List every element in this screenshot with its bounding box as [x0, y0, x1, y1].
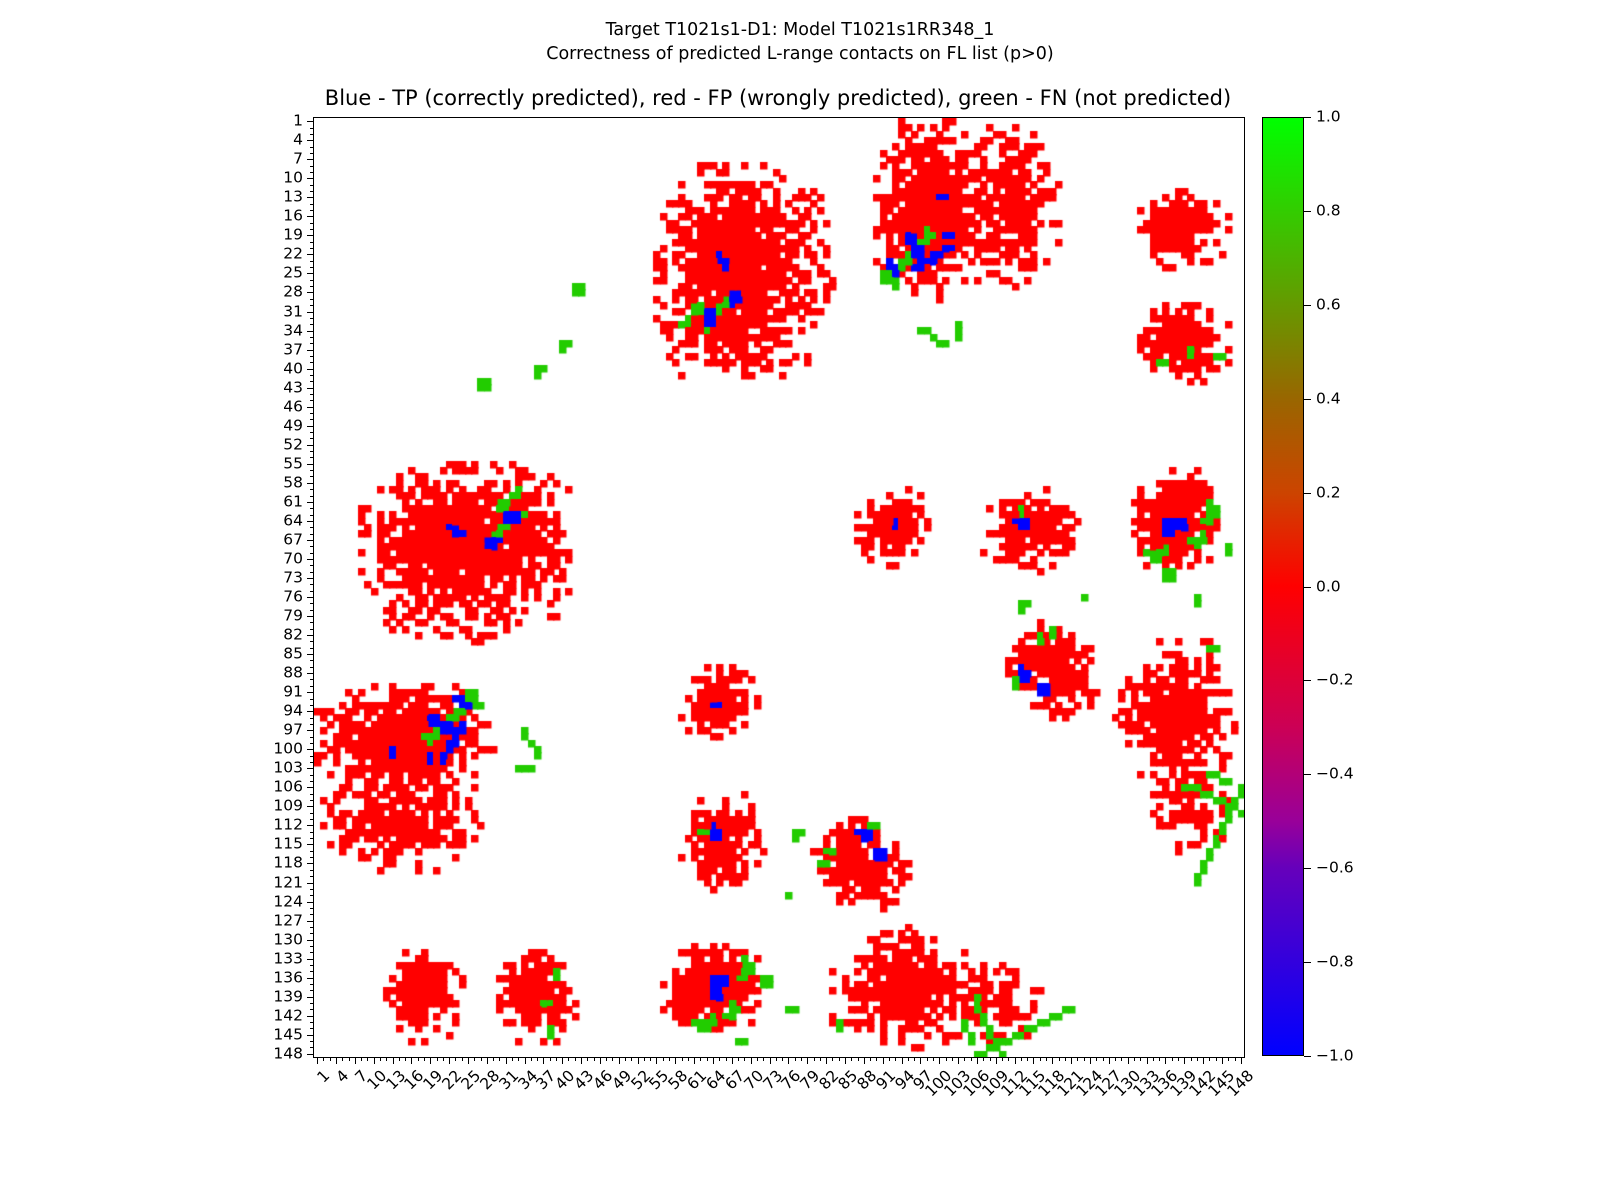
y-tick	[310, 242, 314, 243]
y-tick	[310, 775, 314, 776]
y-tick	[310, 908, 314, 909]
y-tick	[310, 629, 314, 630]
y-tick	[307, 140, 314, 141]
colorbar-tick-label: 0.6	[1316, 297, 1341, 313]
x-tick	[1178, 1057, 1179, 1061]
colorbar-tick-label: 0.4	[1316, 391, 1341, 407]
x-tick	[1071, 1057, 1072, 1064]
x-tick	[581, 1057, 582, 1064]
x-tick	[807, 1057, 808, 1064]
x-tick	[424, 1057, 425, 1061]
y-tick	[310, 147, 314, 148]
x-tick	[820, 1057, 821, 1061]
x-tick	[411, 1057, 412, 1064]
x-tick	[656, 1057, 657, 1064]
y-tick	[307, 254, 314, 255]
y-tick	[310, 679, 314, 680]
x-tick	[1140, 1057, 1141, 1061]
x-tick	[996, 1057, 997, 1064]
y-tick-label: 76	[283, 589, 303, 605]
y-tick-label: 112	[273, 818, 303, 834]
x-tick	[801, 1057, 802, 1061]
y-tick-label: 64	[283, 513, 303, 529]
x-tick	[455, 1057, 456, 1061]
y-tick-label: 31	[283, 304, 303, 320]
y-tick	[307, 940, 314, 941]
y-tick	[310, 724, 314, 725]
y-tick-label: 124	[273, 894, 303, 910]
x-tick	[1165, 1057, 1166, 1064]
x-tick	[606, 1057, 607, 1061]
y-tick	[310, 280, 314, 281]
y-tick	[307, 863, 314, 864]
y-tick	[307, 978, 314, 979]
x-tick	[550, 1057, 551, 1061]
x-tick	[977, 1057, 978, 1064]
y-tick	[310, 534, 314, 535]
y-tick	[310, 1003, 314, 1004]
y-tick	[310, 318, 314, 319]
y-tick	[310, 362, 314, 363]
y-tick	[307, 692, 314, 693]
x-tick	[870, 1057, 871, 1061]
y-tick-label: 19	[283, 228, 303, 244]
colorbar[interactable]: 1.00.80.60.40.20.0−0.2−0.4−0.6−0.8−1.0	[1262, 117, 1304, 1056]
y-tick	[307, 235, 314, 236]
x-tick	[795, 1057, 796, 1061]
y-tick	[310, 781, 314, 782]
y-tick-label: 70	[283, 551, 303, 567]
y-tick-label: 100	[273, 742, 303, 758]
y-tick	[307, 369, 314, 370]
y-tick-label: 139	[273, 989, 303, 1005]
y-tick	[307, 921, 314, 922]
x-tick	[386, 1057, 387, 1061]
x-tick	[650, 1057, 651, 1061]
x-tick	[355, 1057, 356, 1064]
y-tick	[310, 394, 314, 395]
y-tick	[307, 673, 314, 674]
y-tick-label: 142	[273, 1008, 303, 1024]
y-tick	[310, 210, 314, 211]
x-tick	[1235, 1057, 1236, 1061]
y-tick	[310, 324, 314, 325]
x-tick	[367, 1057, 368, 1061]
y-tick	[310, 718, 314, 719]
x-tick	[1147, 1057, 1148, 1064]
x-tick	[1027, 1057, 1028, 1061]
colorbar-tick	[1304, 493, 1311, 494]
x-tick	[330, 1057, 331, 1061]
y-tick	[307, 1035, 314, 1036]
y-tick-label: 61	[283, 494, 303, 510]
x-tick	[361, 1057, 362, 1061]
y-tick	[310, 185, 314, 186]
colorbar-tick-label: −0.8	[1316, 954, 1354, 970]
x-tick	[1153, 1057, 1154, 1061]
y-tick	[310, 870, 314, 871]
y-tick	[307, 121, 314, 122]
x-tick	[895, 1057, 896, 1061]
y-tick	[310, 990, 314, 991]
x-tick	[1191, 1057, 1192, 1061]
y-tick	[310, 261, 314, 262]
x-tick	[757, 1057, 758, 1061]
x-tick	[493, 1057, 494, 1061]
x-tick	[832, 1057, 833, 1061]
y-tick	[310, 838, 314, 839]
x-tick	[902, 1057, 903, 1064]
x-tick	[864, 1057, 865, 1064]
x-tick	[1103, 1057, 1104, 1061]
x-tick	[612, 1057, 613, 1061]
x-tick	[1241, 1057, 1242, 1064]
y-tick	[310, 172, 314, 173]
y-tick	[310, 489, 314, 490]
y-tick-label: 115	[273, 837, 303, 853]
x-tick	[744, 1057, 745, 1061]
y-tick	[307, 597, 314, 598]
y-tick	[310, 984, 314, 985]
colorbar-tick	[1304, 305, 1311, 306]
x-tick	[776, 1057, 777, 1061]
y-tick	[307, 464, 314, 465]
y-tick	[310, 432, 314, 433]
x-tick	[644, 1057, 645, 1061]
y-tick	[310, 857, 314, 858]
y-tick	[310, 1009, 314, 1010]
x-tick	[1159, 1057, 1160, 1061]
x-tick	[556, 1057, 557, 1061]
y-tick	[307, 1016, 314, 1017]
x-tick	[914, 1057, 915, 1061]
y-tick-label: 73	[283, 570, 303, 586]
y-tick	[310, 546, 314, 547]
x-tick	[568, 1057, 569, 1061]
y-tick	[310, 933, 314, 934]
y-tick	[307, 616, 314, 617]
x-tick	[1002, 1057, 1003, 1061]
x-tick	[1021, 1057, 1022, 1061]
y-tick	[310, 813, 314, 814]
colorbar-tick	[1304, 399, 1311, 400]
y-tick-label: 133	[273, 951, 303, 967]
x-tick	[499, 1057, 500, 1061]
y-tick	[307, 273, 314, 274]
y-tick-label: 10	[283, 171, 303, 187]
x-tick	[405, 1057, 406, 1061]
x-tick	[380, 1057, 381, 1061]
y-tick	[310, 756, 314, 757]
y-tick	[307, 787, 314, 788]
y-tick	[310, 927, 314, 928]
x-tick	[1228, 1057, 1229, 1061]
x-tick	[349, 1057, 350, 1061]
y-tick	[310, 800, 314, 801]
x-tick	[688, 1057, 689, 1061]
y-tick-label: 67	[283, 532, 303, 548]
contact-map-plot-area[interactable]: 1471013161922252831343740434649525558616…	[313, 117, 1245, 1058]
x-tick	[719, 1057, 720, 1061]
y-tick	[310, 166, 314, 167]
x-tick	[908, 1057, 909, 1061]
x-tick	[1134, 1057, 1135, 1061]
y-tick	[310, 438, 314, 439]
y-tick	[307, 388, 314, 389]
y-tick	[310, 413, 314, 414]
y-tick	[310, 223, 314, 224]
x-tick	[575, 1057, 576, 1061]
y-tick	[310, 470, 314, 471]
x-tick	[1090, 1057, 1091, 1064]
y-tick	[307, 997, 314, 998]
y-tick	[310, 508, 314, 509]
y-tick	[307, 483, 314, 484]
x-tick	[1033, 1057, 1034, 1064]
y-tick	[307, 825, 314, 826]
y-tick	[310, 737, 314, 738]
x-tick	[920, 1057, 921, 1064]
y-tick-label: 88	[283, 665, 303, 681]
y-tick-label: 37	[283, 342, 303, 358]
y-tick	[310, 153, 314, 154]
y-tick-label: 58	[283, 475, 303, 491]
x-tick	[726, 1057, 727, 1061]
x-tick	[713, 1057, 714, 1064]
figure-title-line1: Target T1021s1-D1: Model T1021s1RR348_1	[0, 18, 1600, 42]
y-tick	[310, 832, 314, 833]
x-tick	[443, 1057, 444, 1061]
x-tick	[625, 1057, 626, 1061]
y-tick	[307, 711, 314, 712]
x-tick	[531, 1057, 532, 1061]
y-tick	[310, 946, 314, 947]
y-tick	[310, 572, 314, 573]
y-tick-label: 130	[273, 932, 303, 948]
y-tick	[307, 502, 314, 503]
x-tick	[1015, 1057, 1016, 1064]
y-tick	[310, 248, 314, 249]
y-tick	[310, 419, 314, 420]
colorbar-tick-label: 1.0	[1316, 109, 1341, 125]
y-tick-label: 25	[283, 266, 303, 282]
x-tick	[952, 1057, 953, 1061]
y-tick	[310, 876, 314, 877]
contact-map-heatmap	[314, 118, 1244, 1057]
y-tick	[310, 204, 314, 205]
y-tick	[310, 527, 314, 528]
x-tick	[971, 1057, 972, 1061]
y-tick	[310, 584, 314, 585]
x-tick	[418, 1057, 419, 1061]
x-tick	[751, 1057, 752, 1064]
y-tick	[310, 496, 314, 497]
colorbar-tick	[1304, 587, 1311, 588]
x-tick	[927, 1057, 928, 1061]
y-tick-label: 7	[293, 151, 303, 167]
y-tick-label: 43	[283, 380, 303, 396]
y-tick-label: 40	[283, 361, 303, 377]
y-tick	[307, 883, 314, 884]
y-tick	[307, 844, 314, 845]
y-tick	[310, 134, 314, 135]
y-tick	[310, 191, 314, 192]
x-tick	[675, 1057, 676, 1064]
x-tick	[562, 1057, 563, 1064]
y-tick	[310, 451, 314, 452]
y-tick	[310, 343, 314, 344]
y-tick	[307, 559, 314, 560]
x-tick-label: 4	[334, 1068, 352, 1086]
y-tick	[310, 895, 314, 896]
colorbar-tick	[1304, 680, 1311, 681]
y-tick	[310, 305, 314, 306]
y-tick-label: 34	[283, 323, 303, 339]
y-tick-label: 16	[283, 209, 303, 225]
x-tick	[763, 1057, 764, 1061]
x-tick	[468, 1057, 469, 1064]
y-tick	[310, 286, 314, 287]
x-tick	[449, 1057, 450, 1064]
y-tick	[310, 1041, 314, 1042]
x-tick	[732, 1057, 733, 1064]
y-tick	[307, 292, 314, 293]
y-tick	[307, 730, 314, 731]
y-tick	[310, 660, 314, 661]
x-tick	[537, 1057, 538, 1061]
y-tick-label: 82	[283, 627, 303, 643]
x-tick	[342, 1057, 343, 1061]
x-tick	[638, 1057, 639, 1064]
y-tick	[307, 578, 314, 579]
x-tick	[858, 1057, 859, 1061]
x-tick	[1209, 1057, 1210, 1061]
x-tick	[851, 1057, 852, 1061]
y-tick	[310, 128, 314, 129]
y-tick	[307, 959, 314, 960]
x-tick	[1216, 1057, 1217, 1061]
x-tick	[1222, 1057, 1223, 1064]
x-tick	[958, 1057, 959, 1064]
y-tick-label: 148	[273, 1046, 303, 1062]
y-tick-label: 121	[273, 875, 303, 891]
x-tick	[1077, 1057, 1078, 1061]
y-tick	[310, 794, 314, 795]
x-tick	[964, 1057, 965, 1061]
y-tick	[310, 356, 314, 357]
x-tick	[939, 1057, 940, 1064]
x-tick	[1203, 1057, 1204, 1064]
y-tick	[310, 819, 314, 820]
x-tick	[512, 1057, 513, 1061]
x-tick	[770, 1057, 771, 1064]
x-tick	[518, 1057, 519, 1061]
y-tick	[310, 971, 314, 972]
x-tick	[1065, 1057, 1066, 1061]
y-tick	[310, 400, 314, 401]
y-tick	[307, 407, 314, 408]
x-tick	[782, 1057, 783, 1061]
y-tick	[307, 197, 314, 198]
y-tick-label: 49	[283, 418, 303, 434]
x-tick	[594, 1057, 595, 1061]
y-tick-label: 52	[283, 437, 303, 453]
x-tick	[738, 1057, 739, 1061]
y-tick	[307, 426, 314, 427]
x-tick	[336, 1057, 337, 1064]
x-tick	[990, 1057, 991, 1061]
x-tick	[631, 1057, 632, 1061]
colorbar-tick-label: 0.8	[1316, 203, 1341, 219]
colorbar-gradient	[1262, 117, 1304, 1056]
y-tick	[310, 889, 314, 890]
y-tick	[310, 952, 314, 953]
y-tick	[310, 603, 314, 604]
x-tick	[393, 1057, 394, 1064]
y-tick-label: 46	[283, 399, 303, 415]
y-tick	[310, 381, 314, 382]
y-tick-label: 4	[293, 132, 303, 148]
y-tick	[310, 1047, 314, 1048]
colorbar-tick-label: −0.4	[1316, 767, 1354, 783]
x-tick	[933, 1057, 934, 1061]
y-tick-label: 22	[283, 247, 303, 263]
x-tick	[506, 1057, 507, 1064]
y-tick-label: 28	[283, 285, 303, 301]
y-tick	[310, 375, 314, 376]
x-tick	[1046, 1057, 1047, 1061]
y-tick	[310, 743, 314, 744]
colorbar-tick-label: 0.0	[1316, 579, 1341, 595]
x-tick-label: 1	[315, 1068, 333, 1086]
colorbar-tick-label: −0.6	[1316, 860, 1354, 876]
x-tick	[1084, 1057, 1085, 1061]
x-tick	[430, 1057, 431, 1064]
y-tick	[310, 686, 314, 687]
y-tick	[310, 610, 314, 611]
y-tick-label: 136	[273, 970, 303, 986]
x-tick	[323, 1057, 324, 1061]
y-tick	[310, 1028, 314, 1029]
x-tick	[317, 1057, 318, 1064]
y-tick-label: 127	[273, 913, 303, 929]
x-tick	[889, 1057, 890, 1061]
y-tick	[310, 699, 314, 700]
x-tick	[826, 1057, 827, 1064]
colorbar-tick	[1304, 774, 1311, 775]
y-tick	[307, 768, 314, 769]
y-tick	[310, 565, 314, 566]
colorbar-tick	[1304, 1056, 1311, 1057]
x-tick	[462, 1057, 463, 1061]
x-tick	[1115, 1057, 1116, 1061]
y-tick	[310, 229, 314, 230]
x-tick	[1008, 1057, 1009, 1061]
x-tick	[1184, 1057, 1185, 1064]
x-tick	[1109, 1057, 1110, 1064]
y-tick	[310, 762, 314, 763]
x-tick	[1197, 1057, 1198, 1061]
y-tick	[310, 1022, 314, 1023]
y-tick	[310, 914, 314, 915]
figure-title-block: Target T1021s1-D1: Model T1021s1RR348_1 …	[0, 18, 1600, 66]
x-tick	[663, 1057, 664, 1061]
y-tick-label: 13	[283, 190, 303, 206]
x-tick	[946, 1057, 947, 1061]
x-tick	[474, 1057, 475, 1061]
y-tick	[310, 648, 314, 649]
y-tick	[310, 591, 314, 592]
